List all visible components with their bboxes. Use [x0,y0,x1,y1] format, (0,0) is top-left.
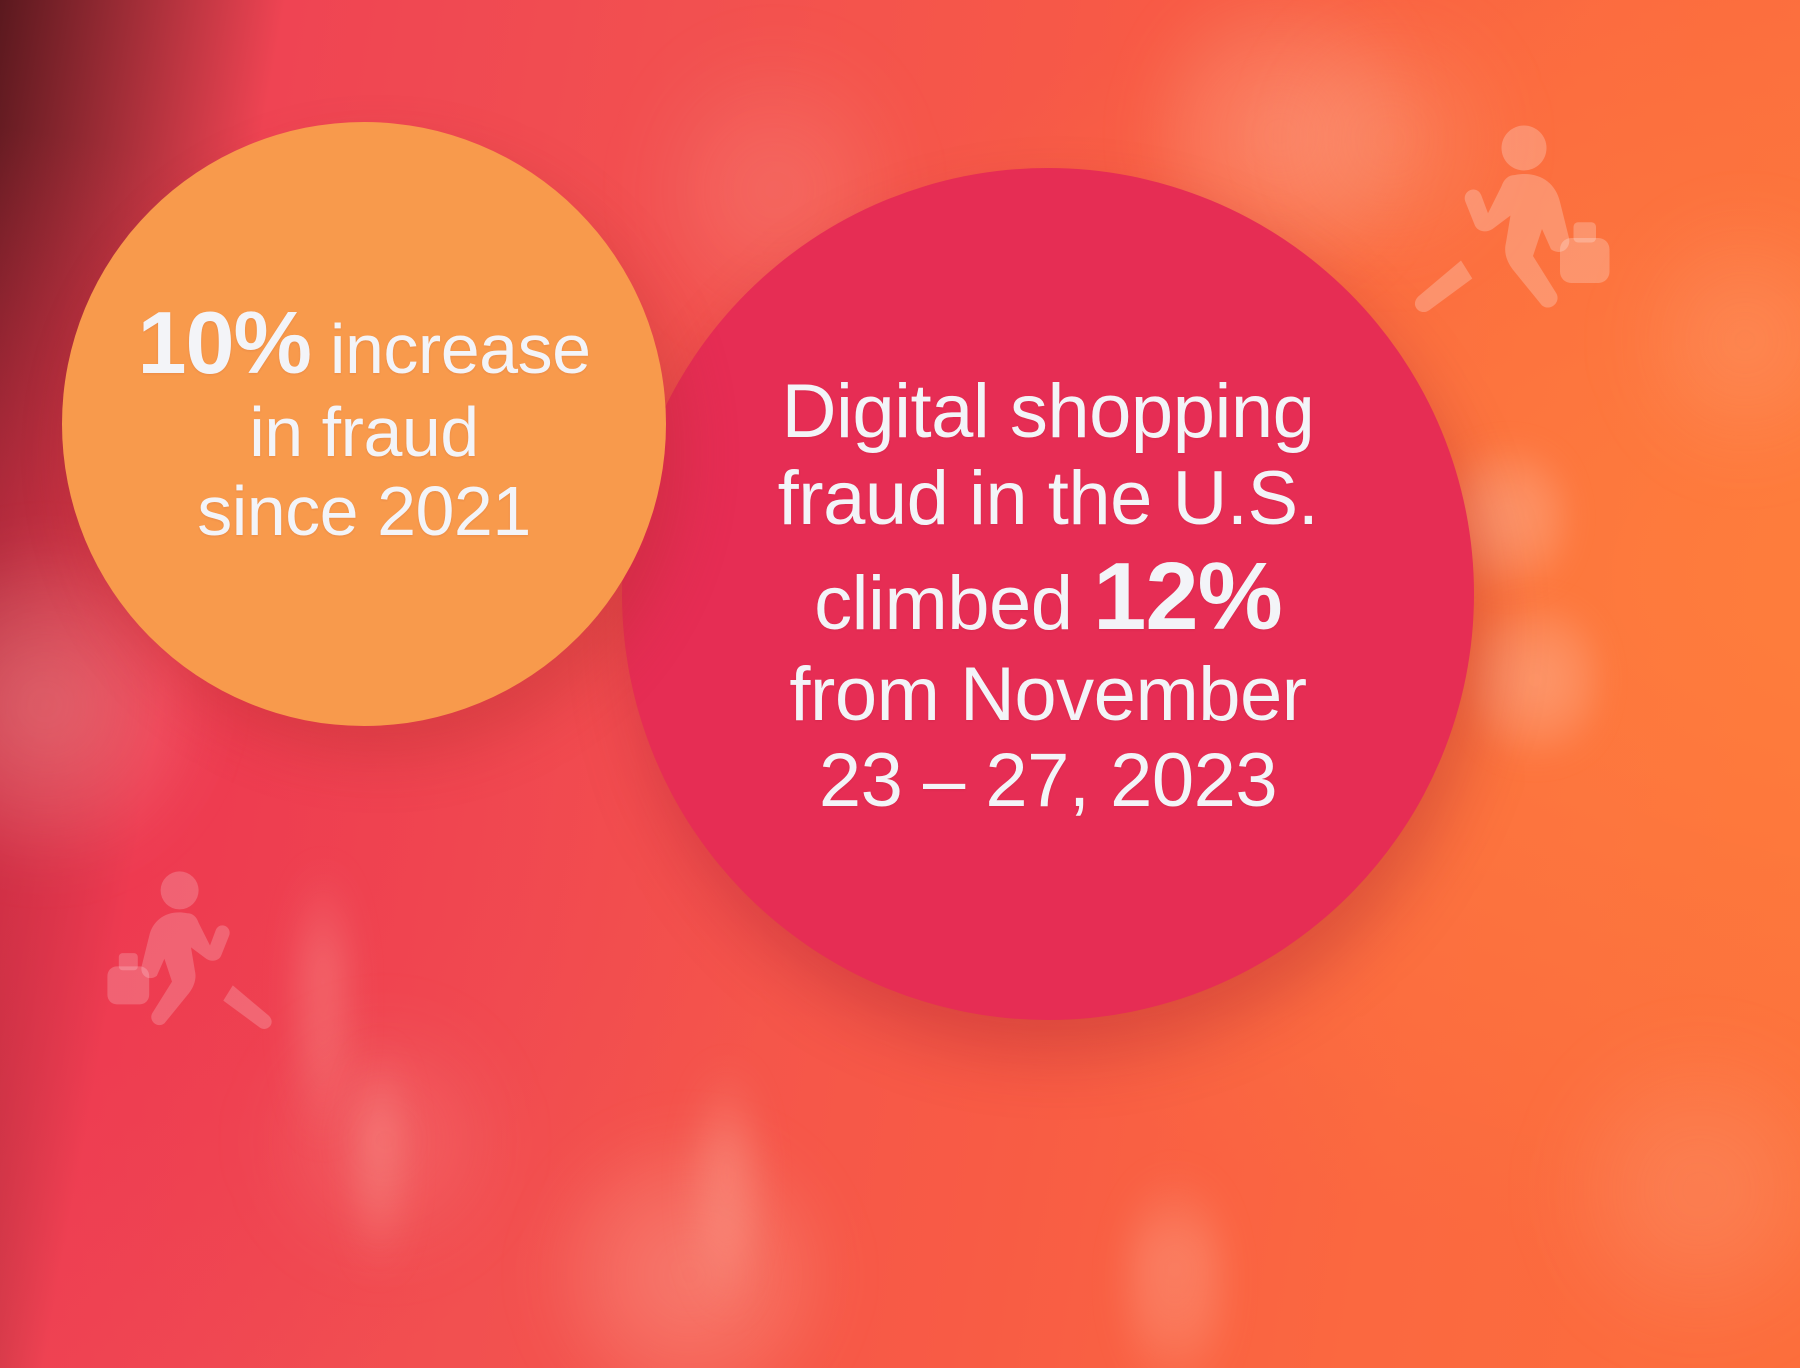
orange-line-1: 10% increase [84,293,644,393]
orange-bubble-text: 10% increase in fraud since 2021 [84,293,644,551]
orange-stat-value: 10% [137,293,311,392]
orange-line-2: in fraud [84,393,644,472]
pink-line-2: fraud in the U.S. [688,456,1408,543]
orange-stat-bubble: 10% increase in fraud since 2021 [62,122,666,726]
pink-line-3-prefix: climbed [814,561,1093,646]
pink-line-5: 23 – 27, 2023 [688,738,1408,825]
pink-stat-value: 12% [1093,543,1282,650]
pink-line-4: from November [688,652,1408,739]
orange-line-3: since 2021 [84,472,644,551]
infographic-canvas: Digital shopping fraud in the U.S. climb… [0,0,1800,1368]
pink-line-3: climbed 12% [688,542,1408,651]
pink-bubble-text: Digital shopping fraud in the U.S. climb… [688,369,1408,825]
pink-line-1: Digital shopping [688,369,1408,456]
orange-line-1-rest: increase [311,310,591,388]
pink-stat-bubble: Digital shopping fraud in the U.S. climb… [622,168,1474,1020]
